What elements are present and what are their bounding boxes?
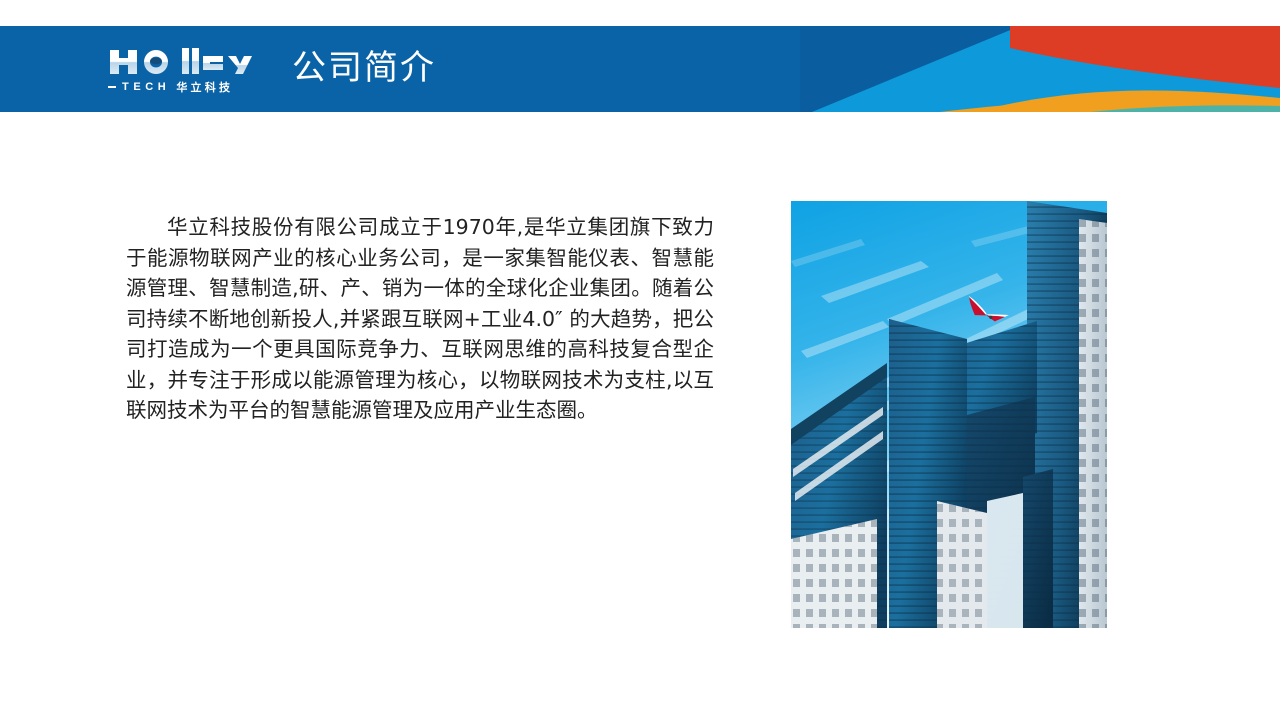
- page-title: 公司简介: [292, 46, 436, 90]
- company-profile-paragraph: 华立科技股份有限公司成立于1970年,是华立集团旗下致力于能源物联网产业的核心业…: [126, 212, 714, 426]
- slide-root: TECH 华立科技 公司简介 华立科技股份有限公司成立于1970年,是华立集团旗…: [0, 0, 1280, 720]
- company-logo: TECH 华立科技: [108, 46, 268, 94]
- holley-wordmark-icon: [108, 46, 268, 78]
- tower-pier-right: [1023, 469, 1053, 628]
- skyline-photo: [791, 201, 1107, 628]
- podium-center: [937, 501, 987, 628]
- logo-subtitle: TECH 华立科技: [108, 79, 268, 95]
- tower-pale-right: [1079, 219, 1107, 628]
- skyline-photo-graphic: [791, 201, 1107, 628]
- logo-rule-left: [108, 86, 116, 88]
- logo-chinese-label: 华立科技: [176, 79, 233, 95]
- logo-tech-label: TECH: [122, 81, 170, 93]
